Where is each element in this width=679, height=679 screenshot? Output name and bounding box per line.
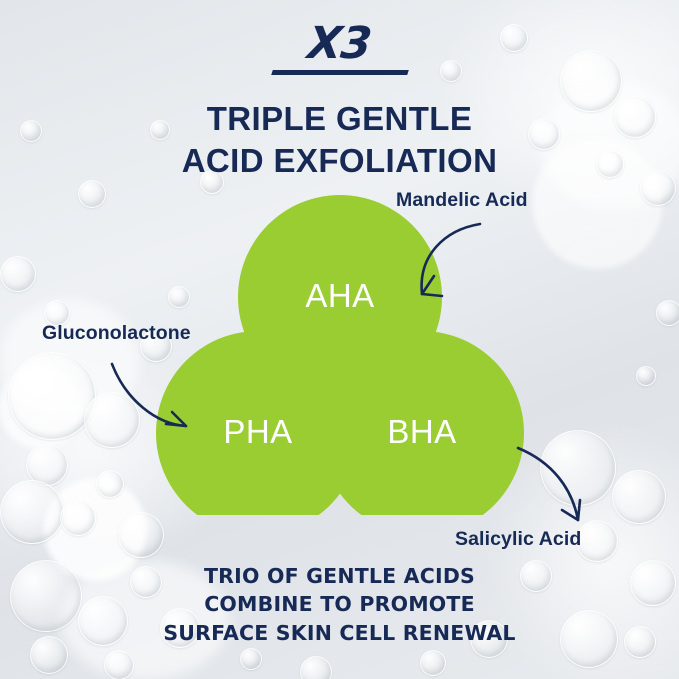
page-title-line-1: TRIPLE GENTLE xyxy=(0,98,679,140)
lobe-label-aha: AHA xyxy=(265,277,415,315)
lobe-label-bha: BHA xyxy=(347,413,497,451)
page-title-line-2: ACID EXFOLIATION xyxy=(0,140,679,182)
trefoil-shape xyxy=(150,195,530,515)
trefoil-diagram: AHA PHA BHA xyxy=(150,195,530,515)
brand-logo: X3 xyxy=(0,22,679,66)
infographic-canvas: X3 TRIPLE GENTLE ACID EXFOLIATION AHA PH… xyxy=(0,0,679,679)
footer-line-2: COMBINE TO PROMOTE xyxy=(0,590,679,618)
callout-salicylic-acid: Salicylic Acid xyxy=(455,528,581,551)
brand-logo-underline xyxy=(271,70,409,75)
callout-gluconolactone: Gluconolactone xyxy=(42,322,191,345)
page-title: TRIPLE GENTLE ACID EXFOLIATION xyxy=(0,98,679,181)
brand-logo-text: X3 xyxy=(306,22,373,66)
lobe-label-pha: PHA xyxy=(183,413,333,451)
footer-line-3: SURFACE SKIN CELL RENEWAL xyxy=(0,619,679,647)
callout-mandelic-acid: Mandelic Acid xyxy=(396,189,528,212)
footer-caption: TRIO OF GENTLE ACIDS COMBINE TO PROMOTE … xyxy=(0,562,679,647)
footer-line-1: TRIO OF GENTLE ACIDS xyxy=(0,562,679,590)
